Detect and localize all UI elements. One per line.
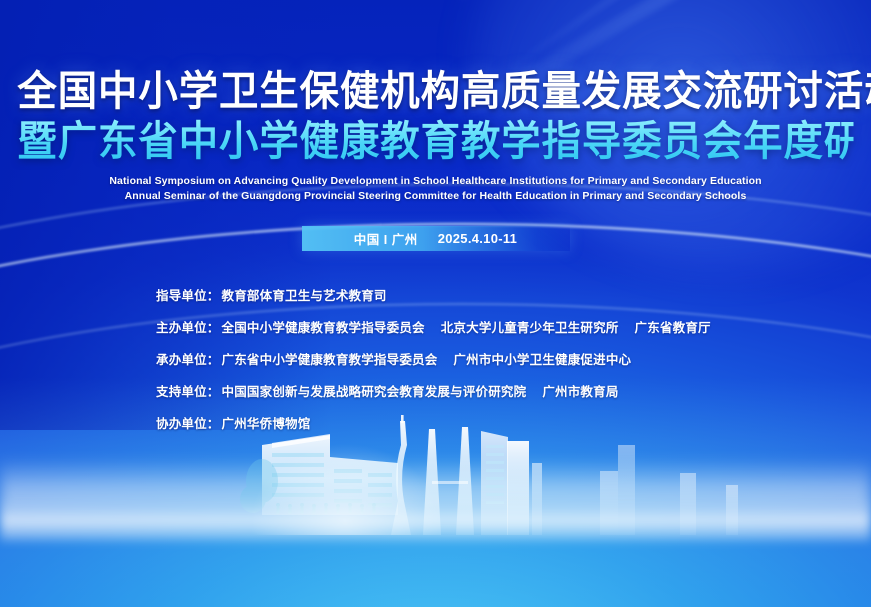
poster-headline-block: 全国中小学卫生保健机构高质量发展交流研讨活动 暨广东省中小学健康教育教学指导委员…	[0, 68, 871, 204]
organization-label: 指导单位：	[156, 289, 220, 303]
organization-value: 广州市教育局	[542, 385, 618, 399]
organization-row: 协办单位：广州华侨博物馆	[156, 416, 727, 432]
title-line-2: 暨广东省中小学健康教育教学指导委员会年度研讨活动	[17, 118, 853, 164]
organization-value: 中国国家创新与发展战略研究会教育发展与评价研究院	[222, 385, 527, 399]
organization-value: 全国中小学健康教育教学指导委员会	[222, 321, 425, 335]
location-date-chip: 中国 I 广州 2025.4.10-11	[302, 226, 570, 251]
organization-value: 广东省教育厅	[635, 321, 711, 335]
english-subtitle-line-1: National Symposium on Advancing Quality …	[0, 174, 871, 189]
organization-row: 承办单位：广东省中小学健康教育教学指导委员会广州市中小学卫生健康促进中心	[156, 352, 727, 368]
organization-value: 广东省中小学健康教育教学指导委员会	[222, 353, 438, 367]
organization-label: 承办单位：	[156, 353, 220, 367]
organization-value: 北京大学儿童青少年卫生研究所	[441, 321, 619, 335]
organization-row: 支持单位：中国国家创新与发展战略研究会教育发展与评价研究院广州市教育局	[156, 384, 727, 400]
event-location: 中国 I 广州	[354, 229, 418, 248]
organizations-block: 指导单位：教育部体育卫生与艺术教育司 主办单位：全国中小学健康教育教学指导委员会…	[156, 288, 727, 448]
event-meta-bar: 中国 I 广州 2025.4.10-11	[0, 226, 871, 251]
conference-poster: 全国中小学卫生保健机构高质量发展交流研讨活动 暨广东省中小学健康教育教学指导委员…	[0, 0, 871, 607]
organization-value: 广州华侨博物馆	[222, 417, 311, 431]
organization-row: 指导单位：教育部体育卫生与艺术教育司	[156, 288, 727, 304]
organization-label: 协办单位：	[156, 417, 220, 431]
organization-label: 主办单位：	[156, 321, 220, 335]
event-date: 2025.4.10-11	[438, 231, 518, 246]
organization-row: 主办单位：全国中小学健康教育教学指导委员会北京大学儿童青少年卫生研究所广东省教育…	[156, 320, 727, 336]
organization-label: 支持单位：	[156, 385, 220, 399]
title-line-1: 全国中小学卫生保健机构高质量发展交流研讨活动	[17, 68, 853, 114]
organization-value: 广州市中小学卫生健康促进中心	[453, 353, 631, 367]
organization-value: 教育部体育卫生与艺术教育司	[222, 289, 387, 303]
skyline-ground-fade	[0, 495, 871, 541]
english-subtitle-line-2: Annual Seminar of the Guangdong Provinci…	[0, 189, 871, 204]
